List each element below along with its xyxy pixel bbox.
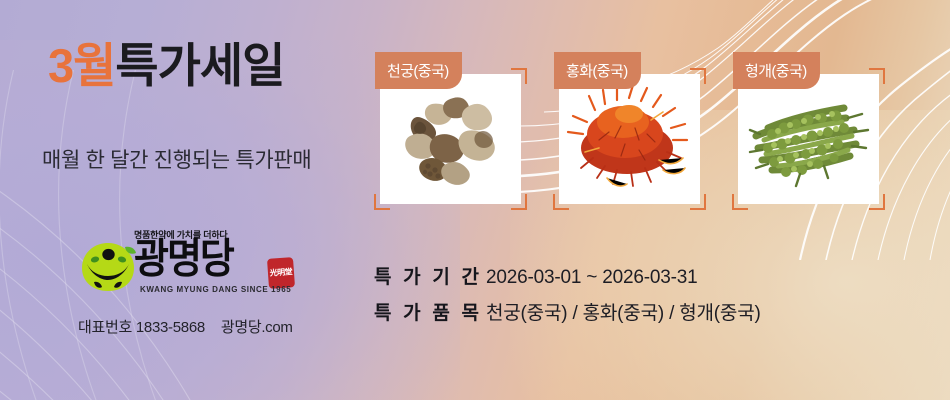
phone-label: 대표번호 [78, 319, 132, 336]
headline-month: 3월 [48, 39, 115, 92]
product-card-list: 천궁(중국) [380, 52, 935, 207]
safflower-photo [559, 74, 700, 204]
schizonepeta-photo [738, 74, 879, 204]
promo-period-label: 특 가 기 간 [374, 262, 486, 289]
promo-items-row: 특 가 품 목 천궁(중국) / 홍화(중국) / 형개(중국) [374, 298, 894, 334]
kwangmyungdang-mark-icon [80, 241, 136, 293]
promo-period-row: 특 가 기 간 2026-03-01 ~ 2026-03-31 [374, 262, 894, 298]
promo-items-label: 특 가 품 목 [374, 298, 486, 325]
card-corner-bottom-left [374, 194, 390, 210]
product-card[interactable]: 천궁(중국) [380, 52, 521, 204]
brand-logo: 명품한약에 가치를 더하다 광명당 光明堂 KWANG MYUNG DANG S… [72, 228, 322, 300]
headline-rest: 특가세일 [115, 39, 284, 92]
website[interactable]: 광명당.com [221, 319, 293, 336]
product-card[interactable]: 형개(중국) [738, 52, 879, 204]
card-label: 천궁(중국) [375, 52, 462, 89]
card-corner-top-right [511, 68, 527, 84]
card-corner-bottom-left [732, 194, 748, 210]
card-corner-top-right [869, 68, 885, 84]
promo-period-value: 2026-03-01 ~ 2026-03-31 [486, 267, 697, 289]
headline: 3월특가세일 [48, 42, 284, 89]
card-label: 홍화(중국) [554, 52, 641, 89]
phone-number: 1833-5868 [136, 319, 205, 336]
promo-details: 특 가 기 간 2026-03-01 ~ 2026-03-31 특 가 품 목 … [374, 262, 894, 334]
product-card[interactable]: 홍화(중국) [559, 52, 700, 204]
card-corner-bottom-left [553, 194, 569, 210]
card-label: 형개(중국) [733, 52, 820, 89]
contact-line: 대표번호 1833-5868 광명당.com [78, 316, 293, 337]
subheadline: 매월 한 달간 진행되는 특가판매 [42, 144, 311, 174]
card-corner-bottom-right [690, 194, 706, 210]
cnidium-rhizome-photo [380, 74, 521, 204]
promo-items-value: 천궁(중국) / 홍화(중국) / 형개(중국) [486, 298, 761, 325]
card-corner-bottom-right [869, 194, 885, 210]
promo-banner: 3월특가세일 매월 한 달간 진행되는 특가판매 명품한약에 가치를 더하다 광… [0, 0, 950, 400]
logo-english-name: KWANG MYUNG DANG SINCE 1965 [140, 285, 291, 294]
card-corner-bottom-right [511, 194, 527, 210]
card-corner-top-right [690, 68, 706, 84]
logo-wordmark: 광명당 [134, 239, 233, 280]
logo-seal-text: 光明堂 [270, 268, 293, 277]
